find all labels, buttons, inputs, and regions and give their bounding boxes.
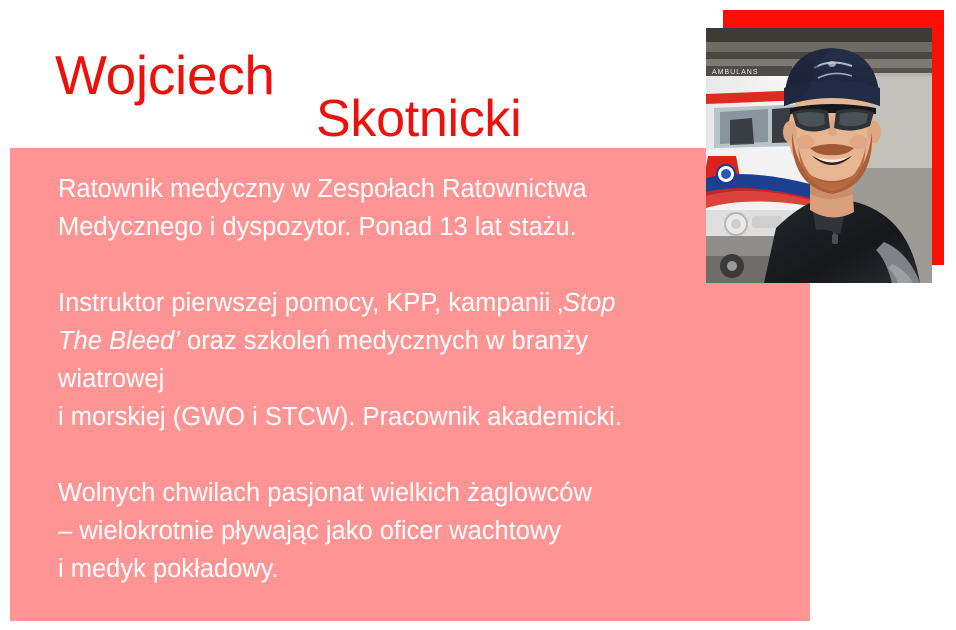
bio-paragraph-2: Instruktor pierwszej pomocy, KPP, kampan…: [58, 284, 818, 436]
biography-text: Ratownik medyczny w Zespołach Ratownictw…: [58, 170, 818, 588]
page-title-last-name: Skotnicki: [316, 90, 521, 148]
svg-text:AMBULANS: AMBULANS: [712, 69, 759, 76]
paragraph-spacer-2: [58, 436, 818, 474]
biography-panel: Ratownik medyczny w Zespołach Ratownictw…: [10, 148, 810, 621]
paragraph-spacer-1: [58, 246, 818, 284]
bio-paragraph-2-lead: Instruktor pierwszej pomocy, KPP, kampan…: [58, 289, 563, 317]
slide-canvas: Wojciech Skotnicki Ratownik medyczny w Z…: [0, 0, 956, 630]
portrait-photo: AMBULANS: [706, 28, 932, 283]
page-title-first-name: Wojciech: [55, 44, 275, 106]
portrait-illustration: AMBULANS: [706, 28, 932, 283]
bio-paragraph-3: Wolnych chwilach pasjonat wielkich żaglo…: [58, 474, 818, 588]
title-block: Wojciech Skotnicki: [0, 0, 700, 150]
portrait-photo-image: AMBULANS: [706, 28, 932, 283]
bio-paragraph-1: Ratownik medyczny w Zespołach Ratownictw…: [58, 170, 818, 246]
